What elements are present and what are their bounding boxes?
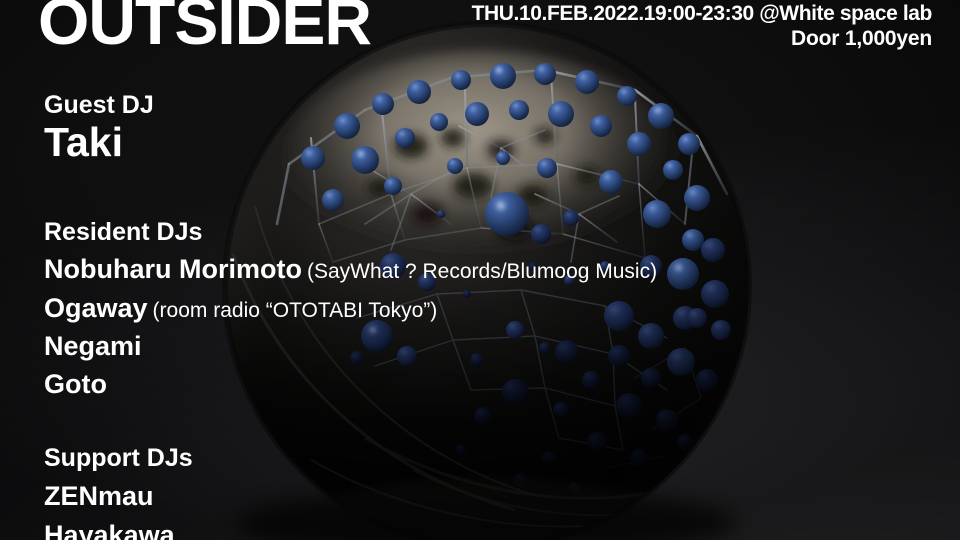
resident-djs-block: Resident DJs Nobuharu Morimoto (SayWhat … — [44, 214, 657, 404]
list-item: Goto — [44, 365, 657, 403]
resident-djs-label: Resident DJs — [44, 214, 657, 250]
dj-affiliation: (room radio “OTOTABI Tokyo”) — [153, 296, 438, 326]
dj-name: Negami — [44, 327, 142, 365]
list-item: Ogaway (room radio “OTOTABI Tokyo”) — [44, 289, 657, 327]
dj-name: ZENmau — [44, 477, 193, 516]
guest-dj-label: Guest DJ — [44, 92, 154, 120]
event-details-header: THU.10.FEB.2022.19:00-23:30 @White space… — [472, 2, 932, 52]
list-item: Negami — [44, 327, 657, 365]
dj-name: Nobuharu Morimoto — [44, 250, 302, 288]
event-flyer: OUTSIDER THU.10.FEB.2022.19:00-23:30 @Wh… — [0, 0, 960, 540]
dj-affiliation: (SayWhat ? Records/Blumoog Music) — [307, 257, 657, 287]
guest-dj-block: Guest DJ Taki — [44, 92, 154, 164]
page-title: OUTSIDER — [38, 0, 371, 54]
dj-name: Goto — [44, 365, 107, 403]
guest-dj-name: Taki — [44, 121, 154, 164]
support-djs-label: Support DJs — [44, 440, 193, 477]
dj-name: Hayakawa — [44, 516, 193, 540]
event-door-price: Door 1,000yen — [472, 27, 932, 52]
list-item: Nobuharu Morimoto (SayWhat ? Records/Blu… — [44, 250, 657, 288]
flyer-text-layer: OUTSIDER THU.10.FEB.2022.19:00-23:30 @Wh… — [0, 0, 960, 540]
event-schedule-line: THU.10.FEB.2022.19:00-23:30 @White space… — [472, 2, 932, 27]
dj-name: Ogaway — [44, 289, 148, 327]
support-djs-block: Support DJs ZENmau Hayakawa — [44, 440, 193, 540]
